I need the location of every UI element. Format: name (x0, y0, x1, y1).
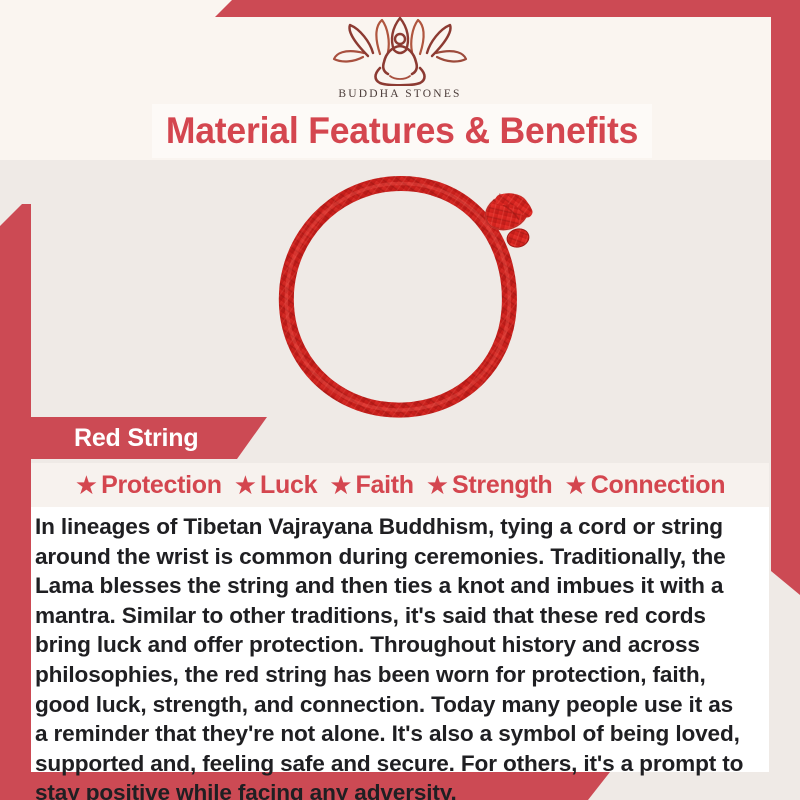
star-icon: ★ (564, 472, 587, 498)
benefit-label: Luck (260, 471, 317, 500)
benefits-row: ★ Protection ★ Luck ★ Faith ★ Strength ★… (31, 463, 769, 507)
benefit-item-strength: ★ Strength (426, 471, 553, 500)
left-red-bar (0, 204, 31, 780)
description-panel: In lineages of Tibetan Vajrayana Buddhis… (31, 507, 769, 772)
brand-logo: BUDDHA STONES (310, 14, 490, 100)
benefit-label: Faith (356, 471, 414, 500)
benefit-item-protection: ★ Protection (75, 471, 222, 500)
title-plate: Material Features & Benefits (152, 104, 652, 158)
product-label: Red String (74, 424, 198, 453)
page-title: Material Features & Benefits (166, 110, 638, 152)
top-red-band (215, 0, 800, 17)
benefit-label: Strength (452, 471, 552, 500)
benefit-label: Protection (101, 471, 222, 500)
star-icon: ★ (426, 472, 449, 498)
benefit-item-faith: ★ Faith (329, 471, 414, 500)
right-red-bar (771, 0, 800, 595)
benefit-item-connection: ★ Connection (564, 471, 725, 500)
red-braided-string-bracelet-image (237, 160, 567, 422)
description-text: In lineages of Tibetan Vajrayana Buddhis… (31, 507, 769, 800)
product-image-area (31, 160, 771, 422)
star-icon: ★ (75, 472, 98, 498)
infographic-page: BUDDHA STONES Material Features & Benefi… (0, 0, 800, 800)
lotus-meditation-figure-icon (330, 14, 470, 86)
star-icon: ★ (329, 472, 352, 498)
benefit-item-luck: ★ Luck (234, 471, 317, 500)
benefit-label: Connection (591, 471, 726, 500)
product-label-banner: Red String (0, 417, 267, 459)
star-icon: ★ (234, 472, 257, 498)
brand-name: BUDDHA STONES (310, 88, 490, 100)
